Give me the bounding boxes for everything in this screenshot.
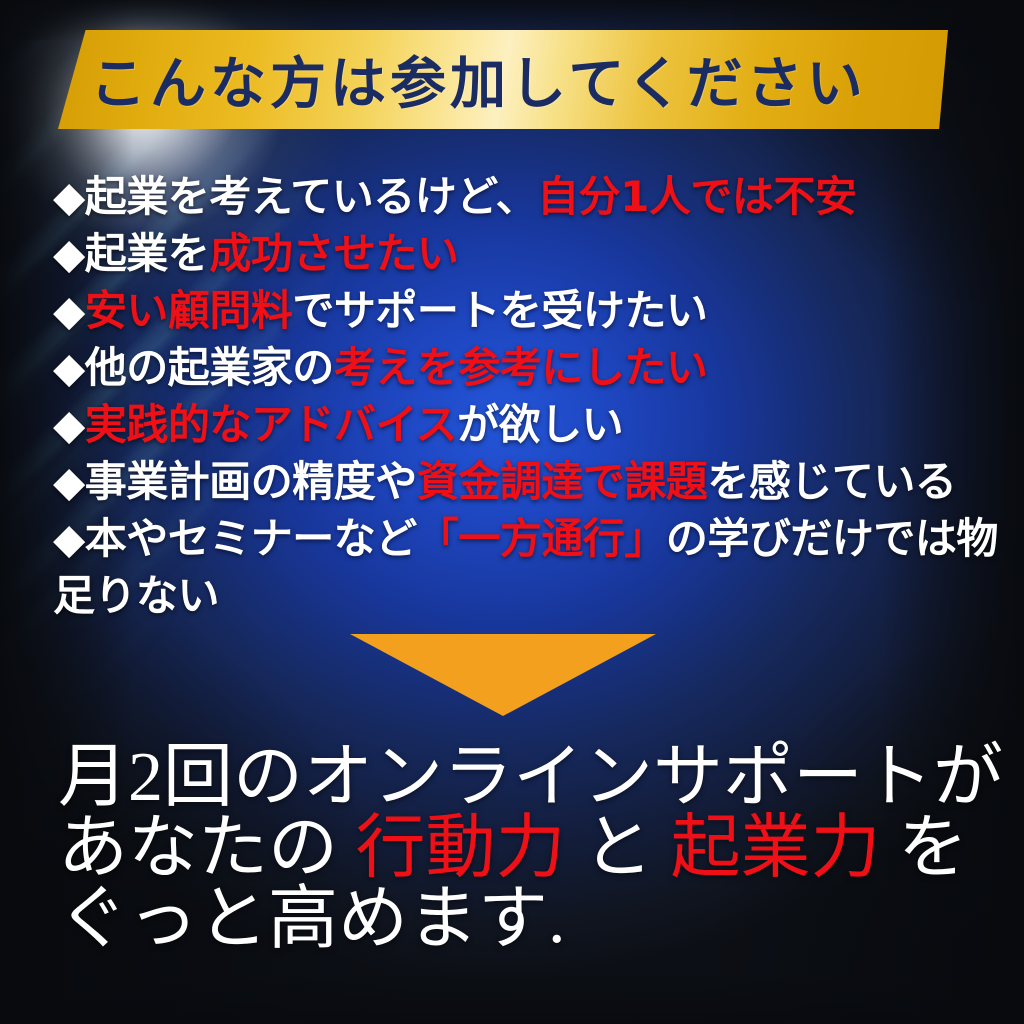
plain-text: ◆	[53, 400, 85, 449]
poster-canvas: こんな方は参加してください ◆起業を考えているけど、自分1人では不安◆起業を成功…	[0, 0, 1024, 1024]
highlight-text: 実践的なアドバイス	[85, 400, 457, 449]
plain-text: ◆起業を	[53, 229, 209, 278]
bullet-item-4: ◆他の起業家の考えを参考にしたい	[53, 339, 1003, 396]
headline-line-2: あなたの 行動力 と 起業力 を	[58, 813, 1018, 884]
bullet-item-2: ◆起業を成功させたい	[53, 225, 1003, 282]
plain-text: 月2回のオンラインサポートが	[58, 739, 1003, 816]
headline-line-1: 月2回のオンラインサポートが	[58, 742, 1018, 813]
plain-text: でサポートを受けたい	[292, 286, 707, 335]
highlight-text: 行動力	[356, 810, 566, 887]
plain-text: を感じている	[707, 457, 956, 506]
bullet-item-5: ◆実践的なアドバイスが欲しい	[53, 396, 1003, 453]
bullet-item-6: ◆事業計画の精度や資金調達で課題を感じている	[53, 453, 1003, 510]
bullet-item-3: ◆安い顧問料でサポートを受けたい	[53, 282, 1003, 339]
plain-text: が欲しい	[457, 400, 623, 449]
highlight-text: 資金調達で課題	[417, 457, 708, 506]
highlight-text: 自分1人では不安	[537, 172, 856, 221]
headline-block: 月2回のオンラインサポートがあなたの 行動力 と 起業力 をぐっと高めます.	[58, 742, 1018, 955]
highlight-text: 考えを参考にしたい	[334, 343, 708, 392]
down-arrow-icon	[350, 634, 656, 716]
plain-text: を	[881, 810, 969, 887]
plain-text: ◆事業計画の精度や	[53, 457, 417, 506]
highlight-text: 「一方通行」	[417, 514, 666, 563]
banner-title: こんな方は参加してください	[58, 30, 948, 129]
banner-title-text: こんな方は参加してください	[90, 39, 867, 120]
bullet-item-7: ◆本やセミナーなど「一方通行」の学びだけでは物足りない	[53, 510, 1003, 624]
plain-text: ◆起業を考えているけど、	[53, 172, 537, 221]
headline-line-3: ぐっと高めます.	[58, 884, 1018, 955]
highlight-text: 成功させたい	[209, 229, 458, 278]
bullet-list: ◆起業を考えているけど、自分1人では不安◆起業を成功させたい◆安い顧問料でサポー…	[53, 168, 1003, 624]
plain-text: と	[566, 810, 671, 887]
highlight-text: 安い顧問料	[85, 286, 293, 335]
highlight-text: 起業力	[671, 810, 881, 887]
plain-text: ◆他の起業家の	[53, 343, 334, 392]
bullet-item-1: ◆起業を考えているけど、自分1人では不安	[53, 168, 1003, 225]
plain-text: あなたの	[58, 810, 356, 887]
plain-text: ぐっと高めます.	[58, 881, 566, 958]
plain-text: ◆	[53, 286, 85, 335]
plain-text: ◆本やセミナーなど	[53, 514, 417, 563]
